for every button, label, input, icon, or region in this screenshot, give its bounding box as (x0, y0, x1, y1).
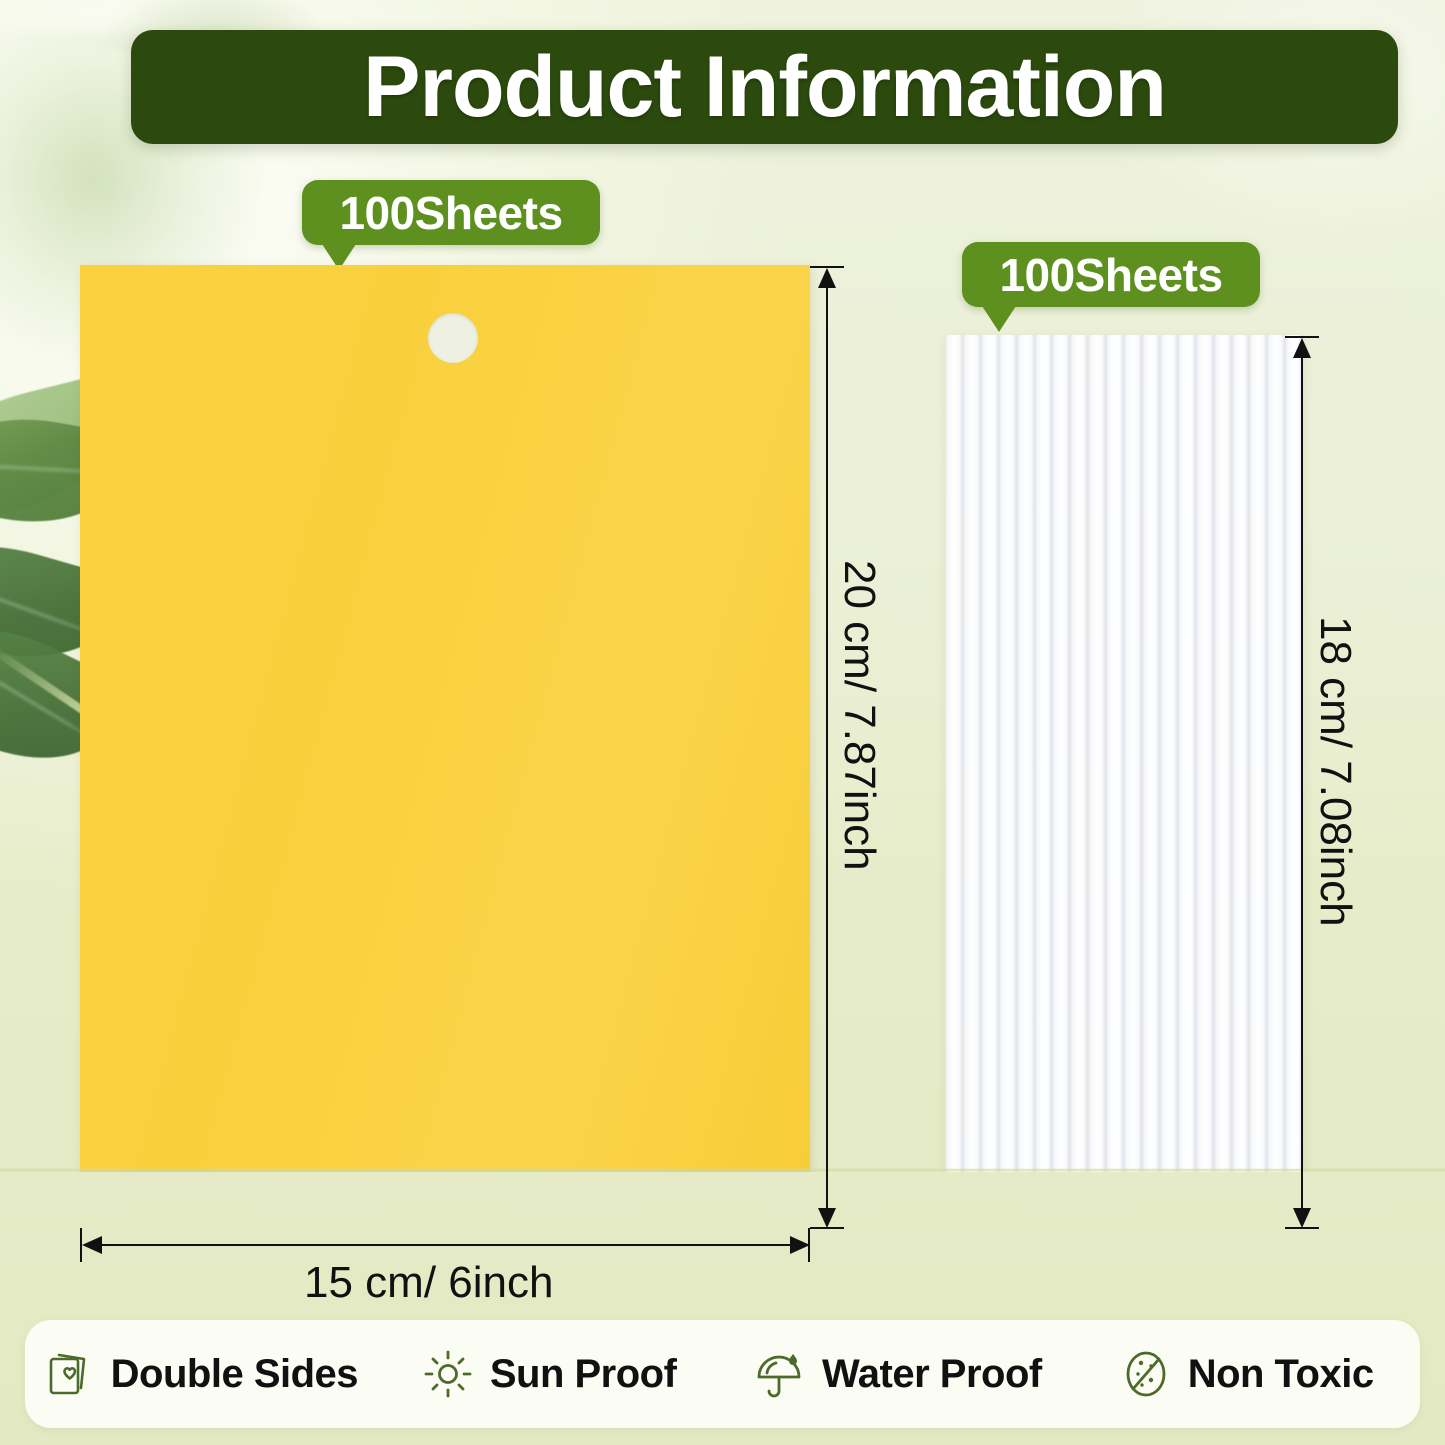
dim-label-card-width: 15 cm/ 6inch (304, 1258, 553, 1308)
hanging-hole-icon (428, 313, 478, 363)
stake-item (945, 335, 963, 1228)
feature-water-proof: Water Proof (723, 1346, 1072, 1402)
stake-item (1124, 335, 1142, 1228)
sun-icon (420, 1346, 476, 1402)
badge-sheets-right-label: 100Sheets (999, 252, 1222, 298)
stake-item (1267, 335, 1285, 1228)
stake-item (1052, 335, 1070, 1228)
stake-item (1035, 335, 1053, 1228)
feature-double-sides: Double Sides (25, 1346, 374, 1402)
page-title-banner: Product Information (131, 30, 1398, 144)
feature-water-proof-label: Water Proof (822, 1352, 1042, 1397)
stake-item (963, 335, 981, 1228)
stake-item (1160, 335, 1178, 1228)
stake-item (981, 335, 999, 1228)
badge-tail-icon (982, 306, 1016, 332)
stake-item (1088, 335, 1106, 1228)
stake-item (1232, 335, 1250, 1228)
dim-arrow-down-stakes-height (1293, 1208, 1311, 1228)
dim-arrow-right-card-width (790, 1236, 810, 1254)
table-edge-line (0, 1168, 1445, 1172)
stake-item (1178, 335, 1196, 1228)
umbrella-icon (752, 1346, 808, 1402)
double-cards-heart-icon (41, 1346, 97, 1402)
dim-arrow-down-card-height (818, 1208, 836, 1228)
feature-non-toxic: Non Toxic (1071, 1346, 1420, 1402)
no-germs-icon (1118, 1346, 1174, 1402)
stake-item (1142, 335, 1160, 1228)
yellow-sticky-trap-card (80, 265, 810, 1228)
badge-sheets-left: 100Sheets (302, 180, 600, 245)
stake-item (1017, 335, 1035, 1228)
stake-item (1249, 335, 1267, 1228)
stake-item (1106, 335, 1124, 1228)
dim-line-stakes-height (1301, 350, 1303, 1214)
features-bar: Double Sides Sun Proof (25, 1320, 1420, 1428)
white-plastic-stakes (945, 335, 1303, 1228)
dim-line-card-height (826, 280, 828, 1214)
dim-line-card-width (94, 1244, 796, 1246)
feature-sun-proof-label: Sun Proof (490, 1352, 677, 1397)
dim-label-card-height: 20 cm/ 7.87inch (834, 560, 884, 871)
badge-sheets-left-label: 100Sheets (339, 190, 562, 236)
badge-sheets-right: 100Sheets (962, 242, 1260, 307)
stake-item (1196, 335, 1214, 1228)
feature-sun-proof: Sun Proof (374, 1346, 723, 1402)
stake-item (1070, 335, 1088, 1228)
page-title: Product Information (363, 44, 1166, 130)
dim-label-stakes-height: 18 cm/ 7.08inch (1310, 616, 1360, 927)
product-information-image: Product Information 100Sheets 100Sheets (0, 0, 1445, 1445)
feature-double-sides-label: Double Sides (111, 1352, 358, 1397)
feature-non-toxic-label: Non Toxic (1188, 1352, 1374, 1397)
stake-item (1214, 335, 1232, 1228)
stake-item (999, 335, 1017, 1228)
